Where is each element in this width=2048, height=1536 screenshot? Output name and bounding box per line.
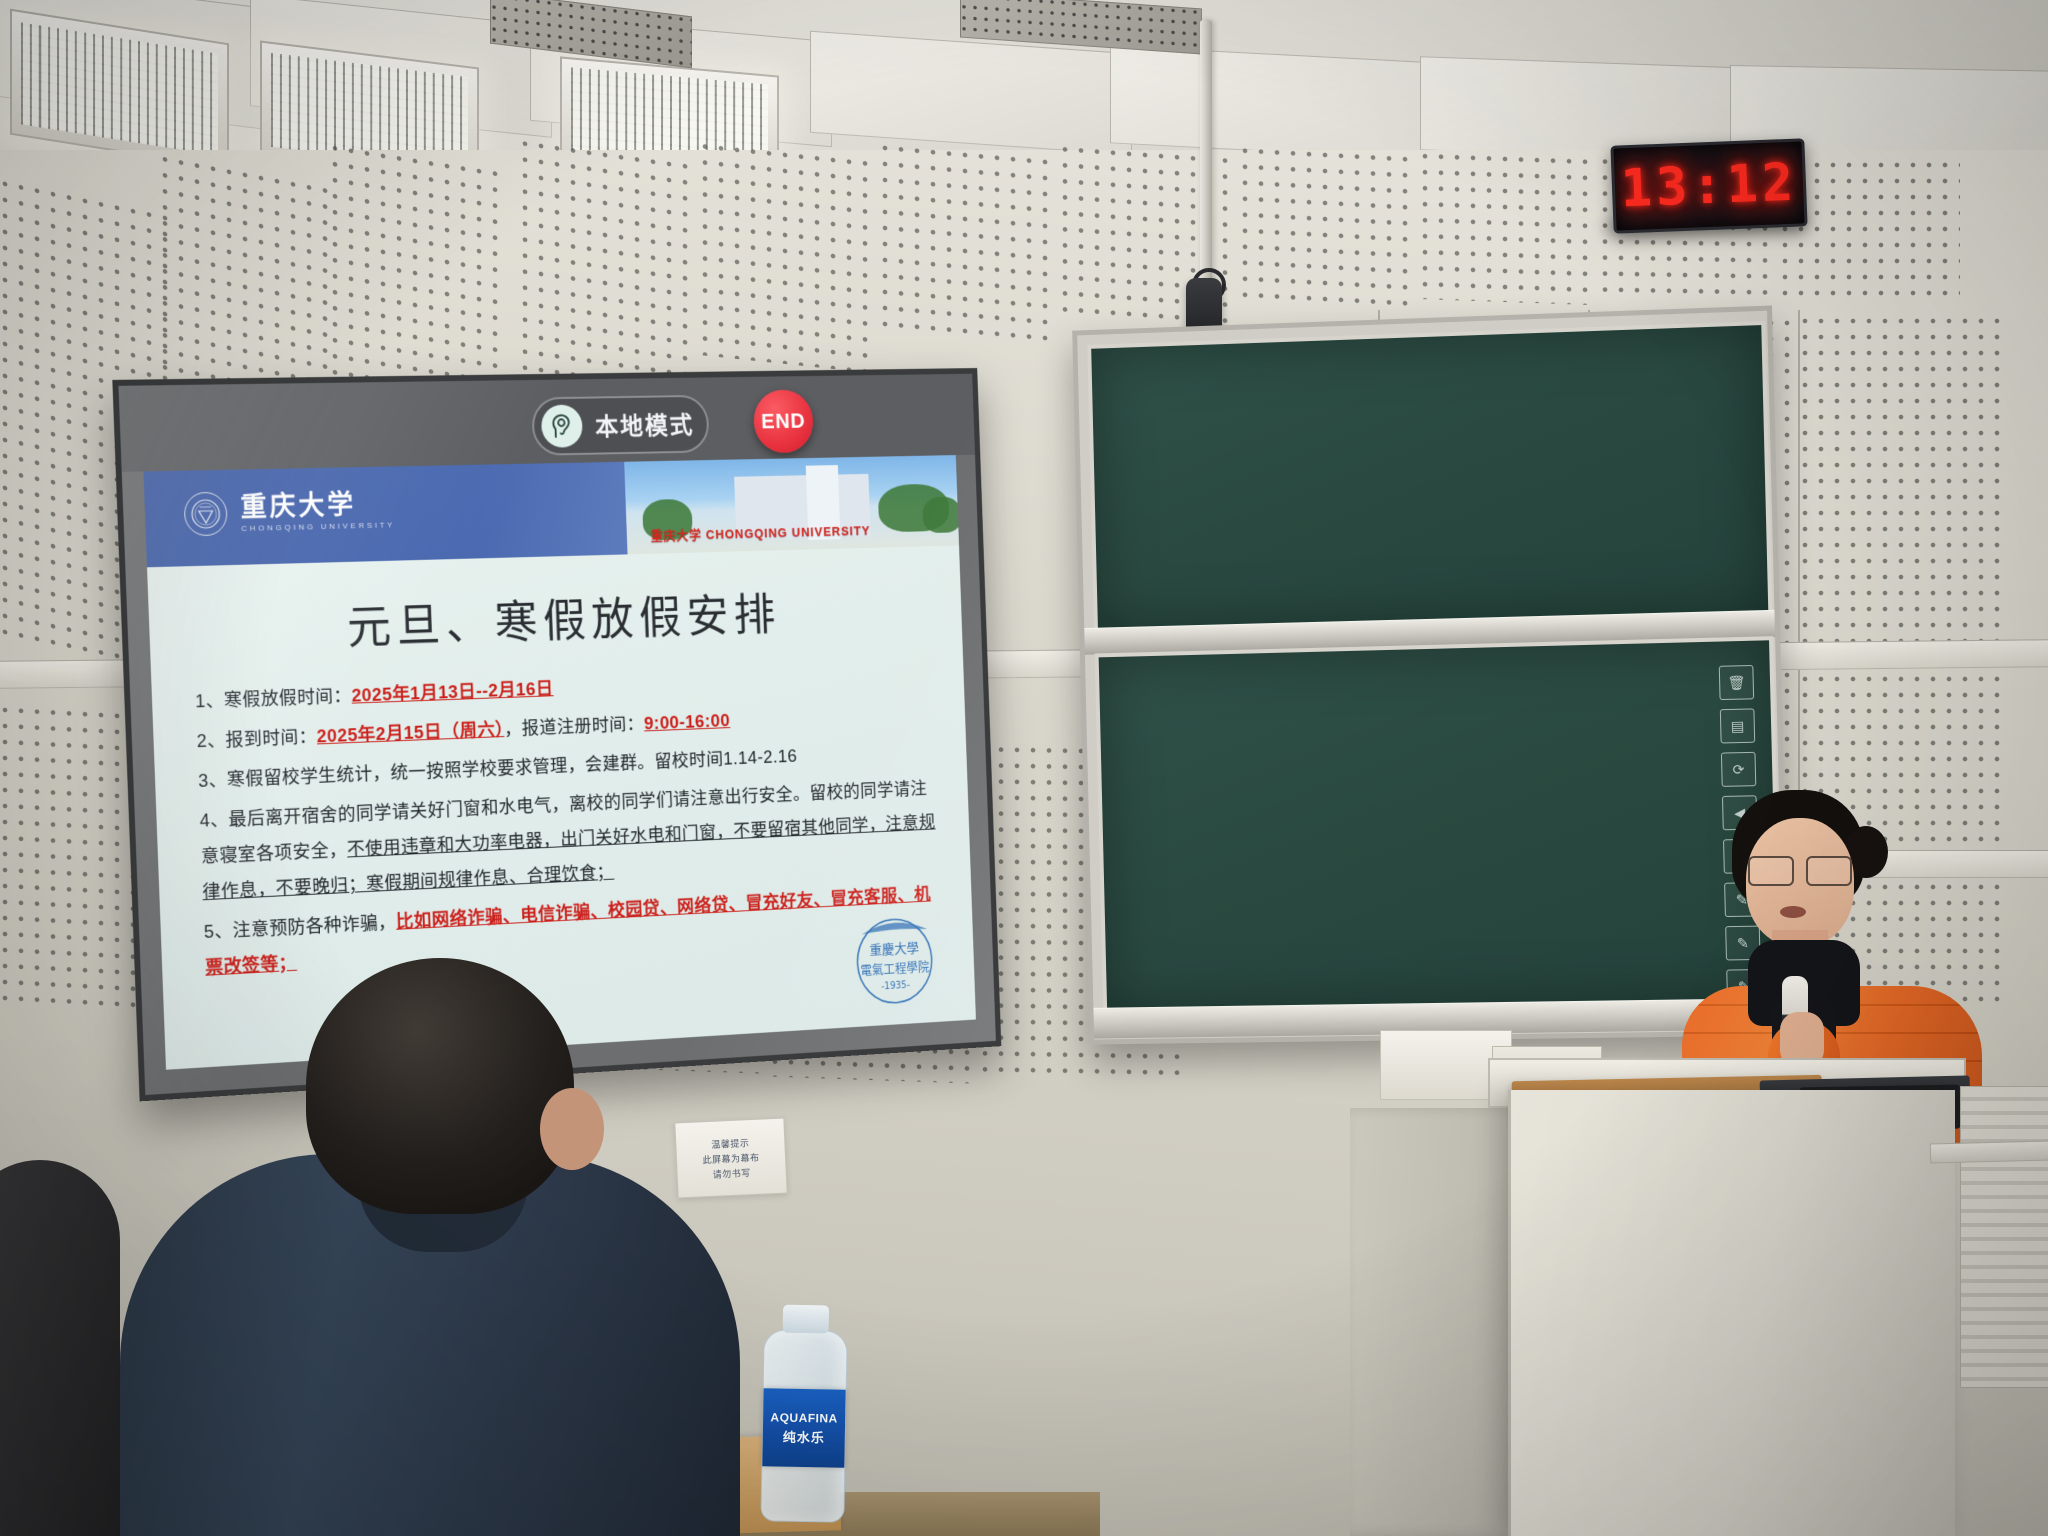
cqu-seal-icon	[183, 492, 228, 537]
line2-time: 9:00-16:00	[644, 710, 731, 734]
audience-member-front	[120, 958, 740, 1536]
bottle-brand-cn: 纯水乐	[783, 1426, 825, 1446]
campus-tree	[922, 496, 959, 533]
acoustic-panel	[520, 138, 690, 402]
refresh-icon[interactable]: ⟳	[1721, 752, 1756, 787]
display-icon[interactable]: ▤	[1720, 708, 1755, 743]
slide-title: 元旦、寒假放假安排	[148, 574, 962, 663]
line5-fraud-1: 比如网络诈骗、电信诈骗、校园贷、网络贷、	[396, 893, 746, 932]
wall-radiator	[1960, 1086, 2048, 1388]
glasses-left-lens	[1748, 856, 1794, 886]
campus-photo: 重庆大学 CHONGQING UNIVERSITY	[624, 455, 959, 554]
line2-mid: ，报道注册时间：	[504, 713, 645, 739]
line1-label: 1、寒假放假时间：	[195, 685, 352, 711]
department-seal: 重慶大學 電氣工程學院 -1935-	[843, 908, 945, 1010]
acoustic-panel	[1800, 316, 2000, 666]
local-mode-pill[interactable]: 本地模式	[531, 395, 710, 456]
line5-label: 5、注意预防各种诈骗，	[204, 912, 397, 943]
bottle-brand: AQUAFINA	[770, 1410, 838, 1425]
presenter-mouth	[1780, 906, 1806, 918]
end-button[interactable]: END	[753, 389, 814, 453]
water-bottle[interactable]: AQUAFINA 纯水乐	[760, 1329, 847, 1522]
blackboard-upper-panel	[1087, 321, 1772, 636]
clock-time: 13:12	[1620, 153, 1799, 220]
ear-icon	[541, 404, 583, 447]
acoustic-panel	[880, 143, 1050, 350]
line2-label: 2、报到时间：	[196, 726, 317, 751]
digital-wall-clock: 13:12	[1610, 138, 1807, 233]
presenter-glasses	[1748, 856, 1852, 882]
lecture-hall-photo: 13:12 本地模式 END	[0, 0, 2048, 1536]
svg-text:電氣工程學院: 電氣工程學院	[860, 960, 929, 978]
slide-logo-text: 重庆大学 CHONGQING UNIVERSITY	[240, 490, 395, 532]
acoustic-panel	[1780, 160, 1960, 300]
audience-ear	[540, 1088, 604, 1170]
ceiling-tile	[1110, 45, 1442, 160]
audience-head	[306, 958, 574, 1214]
podium-side-panel	[1350, 1108, 1520, 1536]
ceiling-tile	[810, 31, 1132, 156]
bottle-cap	[783, 1305, 829, 1334]
trash-icon[interactable]: 🗑	[1719, 665, 1754, 700]
acoustic-panel	[1420, 151, 1590, 305]
bottle-label: AQUAFINA 纯水乐	[762, 1388, 845, 1467]
wall-shelf	[1930, 1141, 2048, 1164]
glasses-right-lens	[1806, 856, 1852, 886]
slide-banner: 重庆大学 CHONGQING UNIVERSITY 重	[143, 455, 959, 567]
audience-member-left	[0, 1160, 120, 1536]
university-name-cn: 重庆大学	[240, 489, 357, 522]
line2-date: 2025年2月15日（周六）	[316, 719, 504, 747]
slide-body: 1、寒假放假时间：2025年1月13日--2月16日 2、报到时间：2025年2…	[195, 658, 946, 991]
line1-date: 2025年1月13日--2月16日	[351, 678, 554, 706]
svg-text:-1935-: -1935-	[881, 980, 911, 992]
slide-university-logo: 重庆大学 CHONGQING UNIVERSITY	[183, 488, 395, 536]
svg-text:重慶大學: 重慶大學	[869, 941, 919, 959]
local-mode-label: 本地模式	[595, 407, 695, 443]
podium-body: 1929 重慶大學 CHONGQING UNIVERSITY 重慶大學	[1508, 1090, 1955, 1536]
acoustic-panel	[700, 141, 870, 373]
acoustic-panel	[1240, 146, 1410, 315]
